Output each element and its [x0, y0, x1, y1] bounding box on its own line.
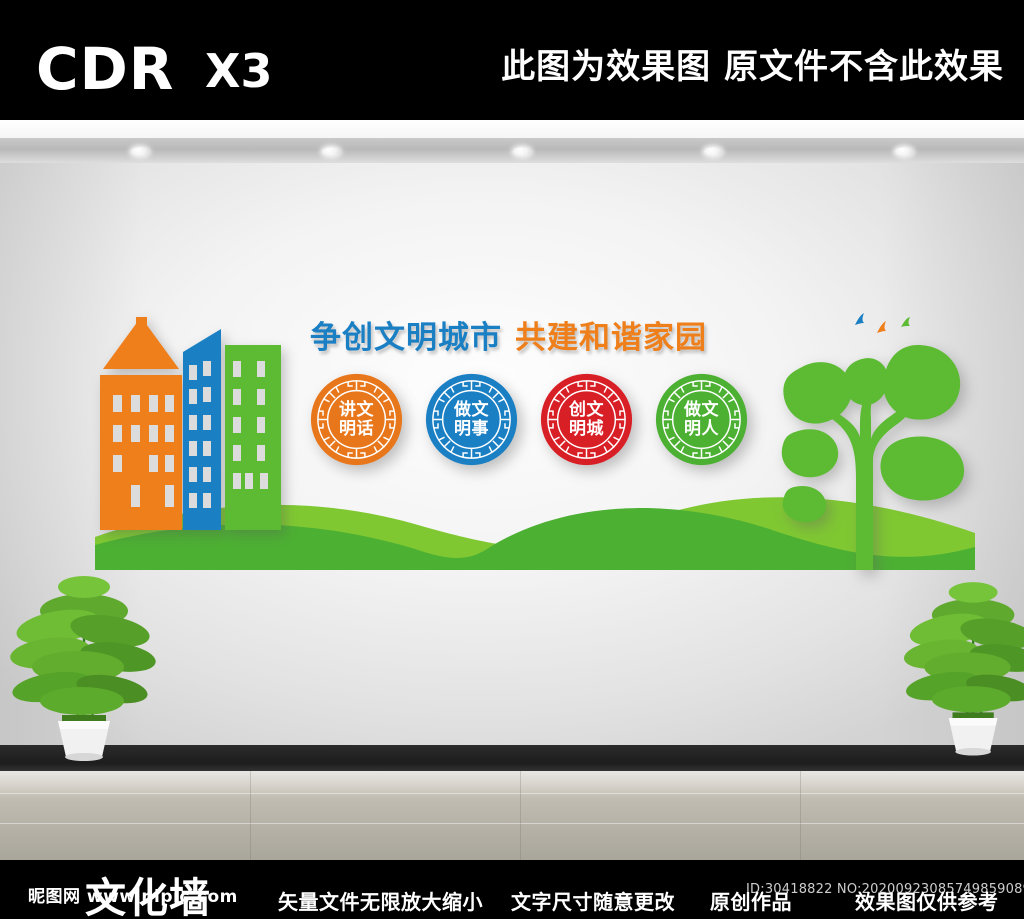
ceiling-spotlight — [513, 147, 531, 156]
building-orange — [100, 317, 182, 530]
badge-line-1: 做文 — [454, 401, 489, 419]
ceiling-spotlight — [895, 147, 913, 156]
headline-right: 共建和谐家园 — [515, 320, 707, 356]
badge-line-1: 讲文 — [339, 401, 374, 419]
culture-wall-artwork: 争创文明城市共建和谐家园 — [95, 305, 975, 570]
plant-pot-left — [58, 715, 110, 761]
badge-build-civilized-city[interactable]: 创文 明城 — [540, 373, 633, 466]
badge-row: 讲文 明话 — [310, 373, 748, 466]
ceiling-band — [0, 138, 1024, 163]
floor — [0, 771, 1024, 860]
brand-version-label: X3 — [205, 48, 272, 94]
badge-line-1: 做文 — [684, 401, 719, 419]
badge-line-2: 明城 — [569, 420, 604, 438]
badge-line-2: 明人 — [684, 420, 719, 438]
watermark-id: ID:30418822 NO:20200923085749859089 — [746, 882, 1024, 897]
badge-do-civilized[interactable]: 做文 明事 — [425, 373, 518, 466]
badge-line-1: 创文 — [569, 401, 604, 419]
ceiling — [0, 120, 1024, 138]
headline-left: 争创文明城市 — [310, 320, 502, 356]
badge-label: 讲文 明话 — [339, 401, 374, 438]
bottom-note-2: 文字尺寸随意更改 — [511, 886, 675, 915]
plant-pot-right — [949, 712, 998, 755]
top-banner: CDR X3 此图为效果图 原文件不含此效果 — [0, 0, 1024, 120]
brand-cdr-label: CDR — [36, 40, 174, 98]
bottom-big-word: 文化墙 — [85, 878, 211, 919]
building-green — [225, 345, 281, 530]
ceiling-spotlight — [131, 147, 149, 156]
badge-line-2: 明话 — [339, 420, 374, 438]
plant-foliage-left — [8, 576, 157, 725]
potted-plant-left — [6, 565, 166, 765]
top-banner-note: 此图为效果图 原文件不含此效果 — [501, 50, 1004, 84]
plant-foliage-right — [902, 582, 1024, 722]
badge-line-2: 明事 — [454, 420, 489, 438]
badge-label: 做文 明人 — [684, 401, 719, 438]
building-blue — [183, 329, 221, 530]
bird-green — [901, 317, 910, 327]
bottom-note-1: 矢量文件无限放大缩小 — [278, 886, 483, 915]
potted-plant-right — [900, 568, 1024, 763]
badge-be-civilized-person[interactable]: 做文 明人 — [655, 373, 748, 466]
room-scene: 争创文明城市共建和谐家园 — [0, 120, 1024, 860]
bird-blue — [855, 313, 864, 325]
tree-graphic — [770, 327, 975, 570]
headline: 争创文明城市共建和谐家园 — [310, 323, 707, 354]
badge-speak-civilized[interactable]: 讲文 明话 — [310, 373, 403, 466]
ceiling-spotlight — [704, 147, 722, 156]
badge-label: 创文 明城 — [569, 401, 604, 438]
badge-label: 做文 明事 — [454, 401, 489, 438]
building-group — [95, 317, 305, 549]
ceiling-spotlight — [322, 147, 340, 156]
screenshot-root: CDR X3 此图为效果图 原文件不含此效果 — [0, 0, 1024, 919]
